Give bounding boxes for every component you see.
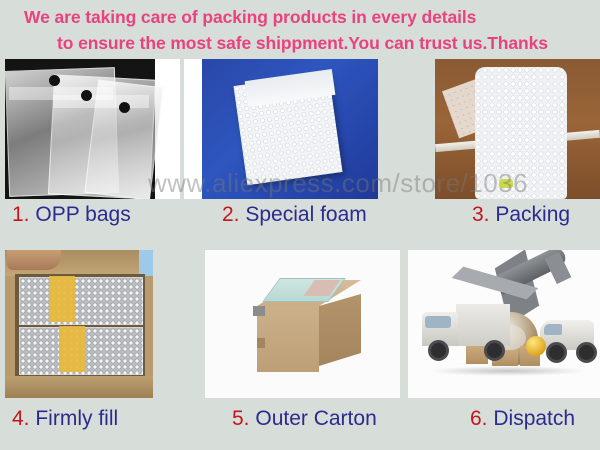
bubble-wrapped-product xyxy=(475,67,567,199)
background-sky xyxy=(139,250,153,276)
green-accent xyxy=(499,179,513,188)
caption-number-4: 4. xyxy=(12,407,30,430)
caption-step-5: 5. Outer Carton xyxy=(232,407,377,431)
hand xyxy=(7,250,61,270)
van-wheel-front xyxy=(546,342,567,363)
caption-label-5: Outer Carton xyxy=(255,407,376,430)
van-window xyxy=(544,324,562,335)
van-wheel-rear xyxy=(576,342,597,363)
header: We are taking care of packing products i… xyxy=(0,0,600,58)
caption-number-3: 3. xyxy=(472,203,490,226)
truck-window xyxy=(425,316,451,328)
photo-opp-bags xyxy=(5,59,180,199)
caption-label-2: Special foam xyxy=(245,203,366,226)
carton-seam xyxy=(257,338,265,348)
wrapped-bundle-1 xyxy=(19,277,143,325)
caption-label-6: Dispatch xyxy=(493,407,575,430)
caption-number-5: 5. xyxy=(232,407,250,430)
truck-wheel-front xyxy=(428,340,449,361)
hang-hole-1 xyxy=(49,75,60,86)
caption-step-2: 2. Special foam xyxy=(222,203,367,227)
opp-bag-seal-strip-2 xyxy=(53,95,149,108)
truck-trailer xyxy=(456,304,510,346)
caption-number-6: 6. xyxy=(470,407,488,430)
hang-hole-3 xyxy=(119,102,130,113)
open-box-scene xyxy=(5,250,153,398)
coin-icon xyxy=(526,336,546,356)
caption-step-3: 3. Packing xyxy=(472,203,570,227)
box-flap-bottom xyxy=(5,376,153,398)
caption-step-6: 6. Dispatch xyxy=(470,407,575,431)
photo-dispatch xyxy=(408,250,600,398)
header-line-1: We are taking care of packing products i… xyxy=(24,7,476,28)
yellow-tape-2 xyxy=(59,326,85,372)
opp-bags-scene xyxy=(5,59,155,199)
carton-front xyxy=(257,306,319,372)
ground-shadow xyxy=(428,366,588,376)
yellow-tape-1 xyxy=(49,276,75,322)
caption-label-1: OPP bags xyxy=(35,203,130,226)
caption-label-3: Packing xyxy=(495,203,570,226)
hang-hole-2 xyxy=(81,90,92,101)
caption-number-1: 1. xyxy=(12,203,30,226)
truck-wheel-rear xyxy=(484,340,505,361)
caption-step-1: 1. OPP bags xyxy=(12,203,131,227)
photo-special-foam xyxy=(184,59,378,199)
photo-packing xyxy=(435,59,600,199)
photo-outer-carton xyxy=(205,250,400,398)
packaging-process-banner: We are taking care of packing products i… xyxy=(0,0,600,450)
caption-step-4: 4. Firmly fill xyxy=(12,407,118,431)
header-line-2: to ensure the most safe shippment.You ca… xyxy=(57,33,548,54)
carton-side xyxy=(319,294,361,366)
carton-clip xyxy=(253,306,265,316)
airplane-tail xyxy=(545,252,572,284)
packing-scene xyxy=(435,59,600,199)
caption-label-4: Firmly fill xyxy=(35,407,118,430)
caption-number-2: 2. xyxy=(222,203,240,226)
foam-scene xyxy=(202,59,378,199)
photo-firmly-fill xyxy=(5,250,153,398)
